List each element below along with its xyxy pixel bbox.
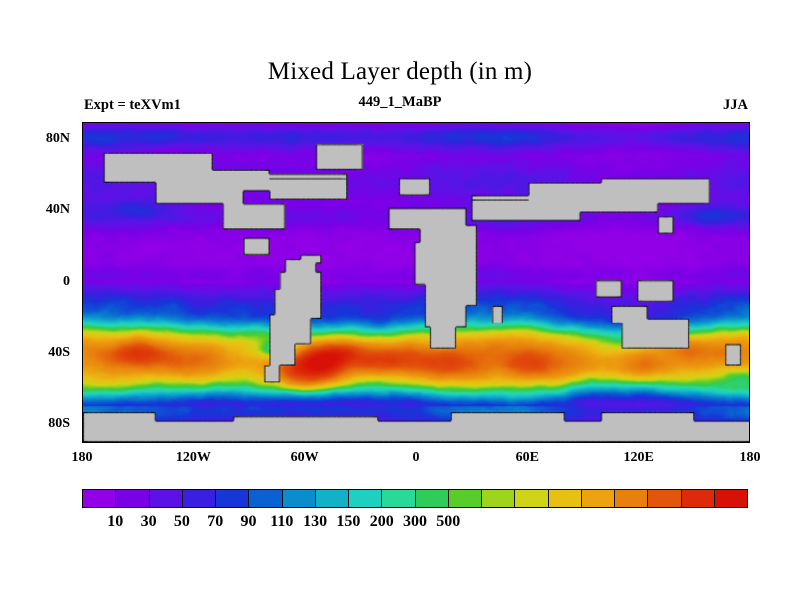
- y-axis-label: 80N: [24, 131, 70, 147]
- x-axis-label: 180: [42, 450, 122, 466]
- y-axis-label: 80S: [24, 416, 70, 432]
- mixed-layer-depth-figure: Mixed Layer depth (in m) Expt = teXVm1 4…: [0, 0, 800, 600]
- colorbar-cell: [582, 490, 615, 507]
- x-axis-tick-top: [0, 240, 2, 247]
- x-axis-tick: [0, 321, 2, 328]
- colorbar-cell: [216, 490, 249, 507]
- x-axis-label: 180: [710, 450, 790, 466]
- season-label: JJA: [723, 97, 748, 114]
- colorbar-tick-label: 500: [413, 513, 483, 531]
- map-plot-area: [82, 122, 750, 443]
- colorbar-cell: [83, 490, 116, 507]
- colorbar-cell: [648, 490, 681, 507]
- colorbar-cell: [183, 490, 216, 507]
- colorbar-cell: [416, 490, 449, 507]
- colorbar-cell: [515, 490, 548, 507]
- colorbar-cell: [316, 490, 349, 507]
- x-axis-tick-top: [0, 196, 2, 203]
- x-axis-tick: [0, 277, 2, 284]
- colorbar: [82, 489, 748, 508]
- x-axis-tick-top: [0, 284, 2, 291]
- x-axis-label: 120E: [599, 450, 679, 466]
- y-axis-label: 0: [24, 274, 70, 290]
- colorbar-cell: [449, 490, 482, 507]
- y-axis-label: 40S: [24, 345, 70, 361]
- colorbar-cell: [349, 490, 382, 507]
- colorbar-cell: [283, 490, 316, 507]
- x-axis-tick-top: [0, 328, 2, 335]
- page-title: Mixed Layer depth (in m): [0, 58, 800, 86]
- colorbar-cell: [249, 490, 282, 507]
- colorbar-cell: [549, 490, 582, 507]
- colorbar-cell: [715, 490, 747, 507]
- colorbar-cell: [682, 490, 715, 507]
- x-axis-tick: [0, 145, 2, 152]
- x-axis-tick-top: [0, 152, 2, 159]
- colorbar-cell: [482, 490, 515, 507]
- colorbar-cell: [615, 490, 648, 507]
- x-axis-tick: [0, 189, 2, 196]
- y-axis-label: 40N: [24, 202, 70, 218]
- x-axis-label: 0: [376, 450, 456, 466]
- mixed-layer-depth-field: [83, 123, 749, 442]
- x-axis-label: 120W: [153, 450, 233, 466]
- x-axis-label: 60W: [265, 450, 345, 466]
- run-label: 449_1_MaBP: [0, 94, 800, 111]
- colorbar-cell: [116, 490, 149, 507]
- colorbar-cell: [382, 490, 415, 507]
- colorbar-cell: [150, 490, 183, 507]
- x-axis-tick: [0, 233, 2, 240]
- x-axis-label: 60E: [487, 450, 567, 466]
